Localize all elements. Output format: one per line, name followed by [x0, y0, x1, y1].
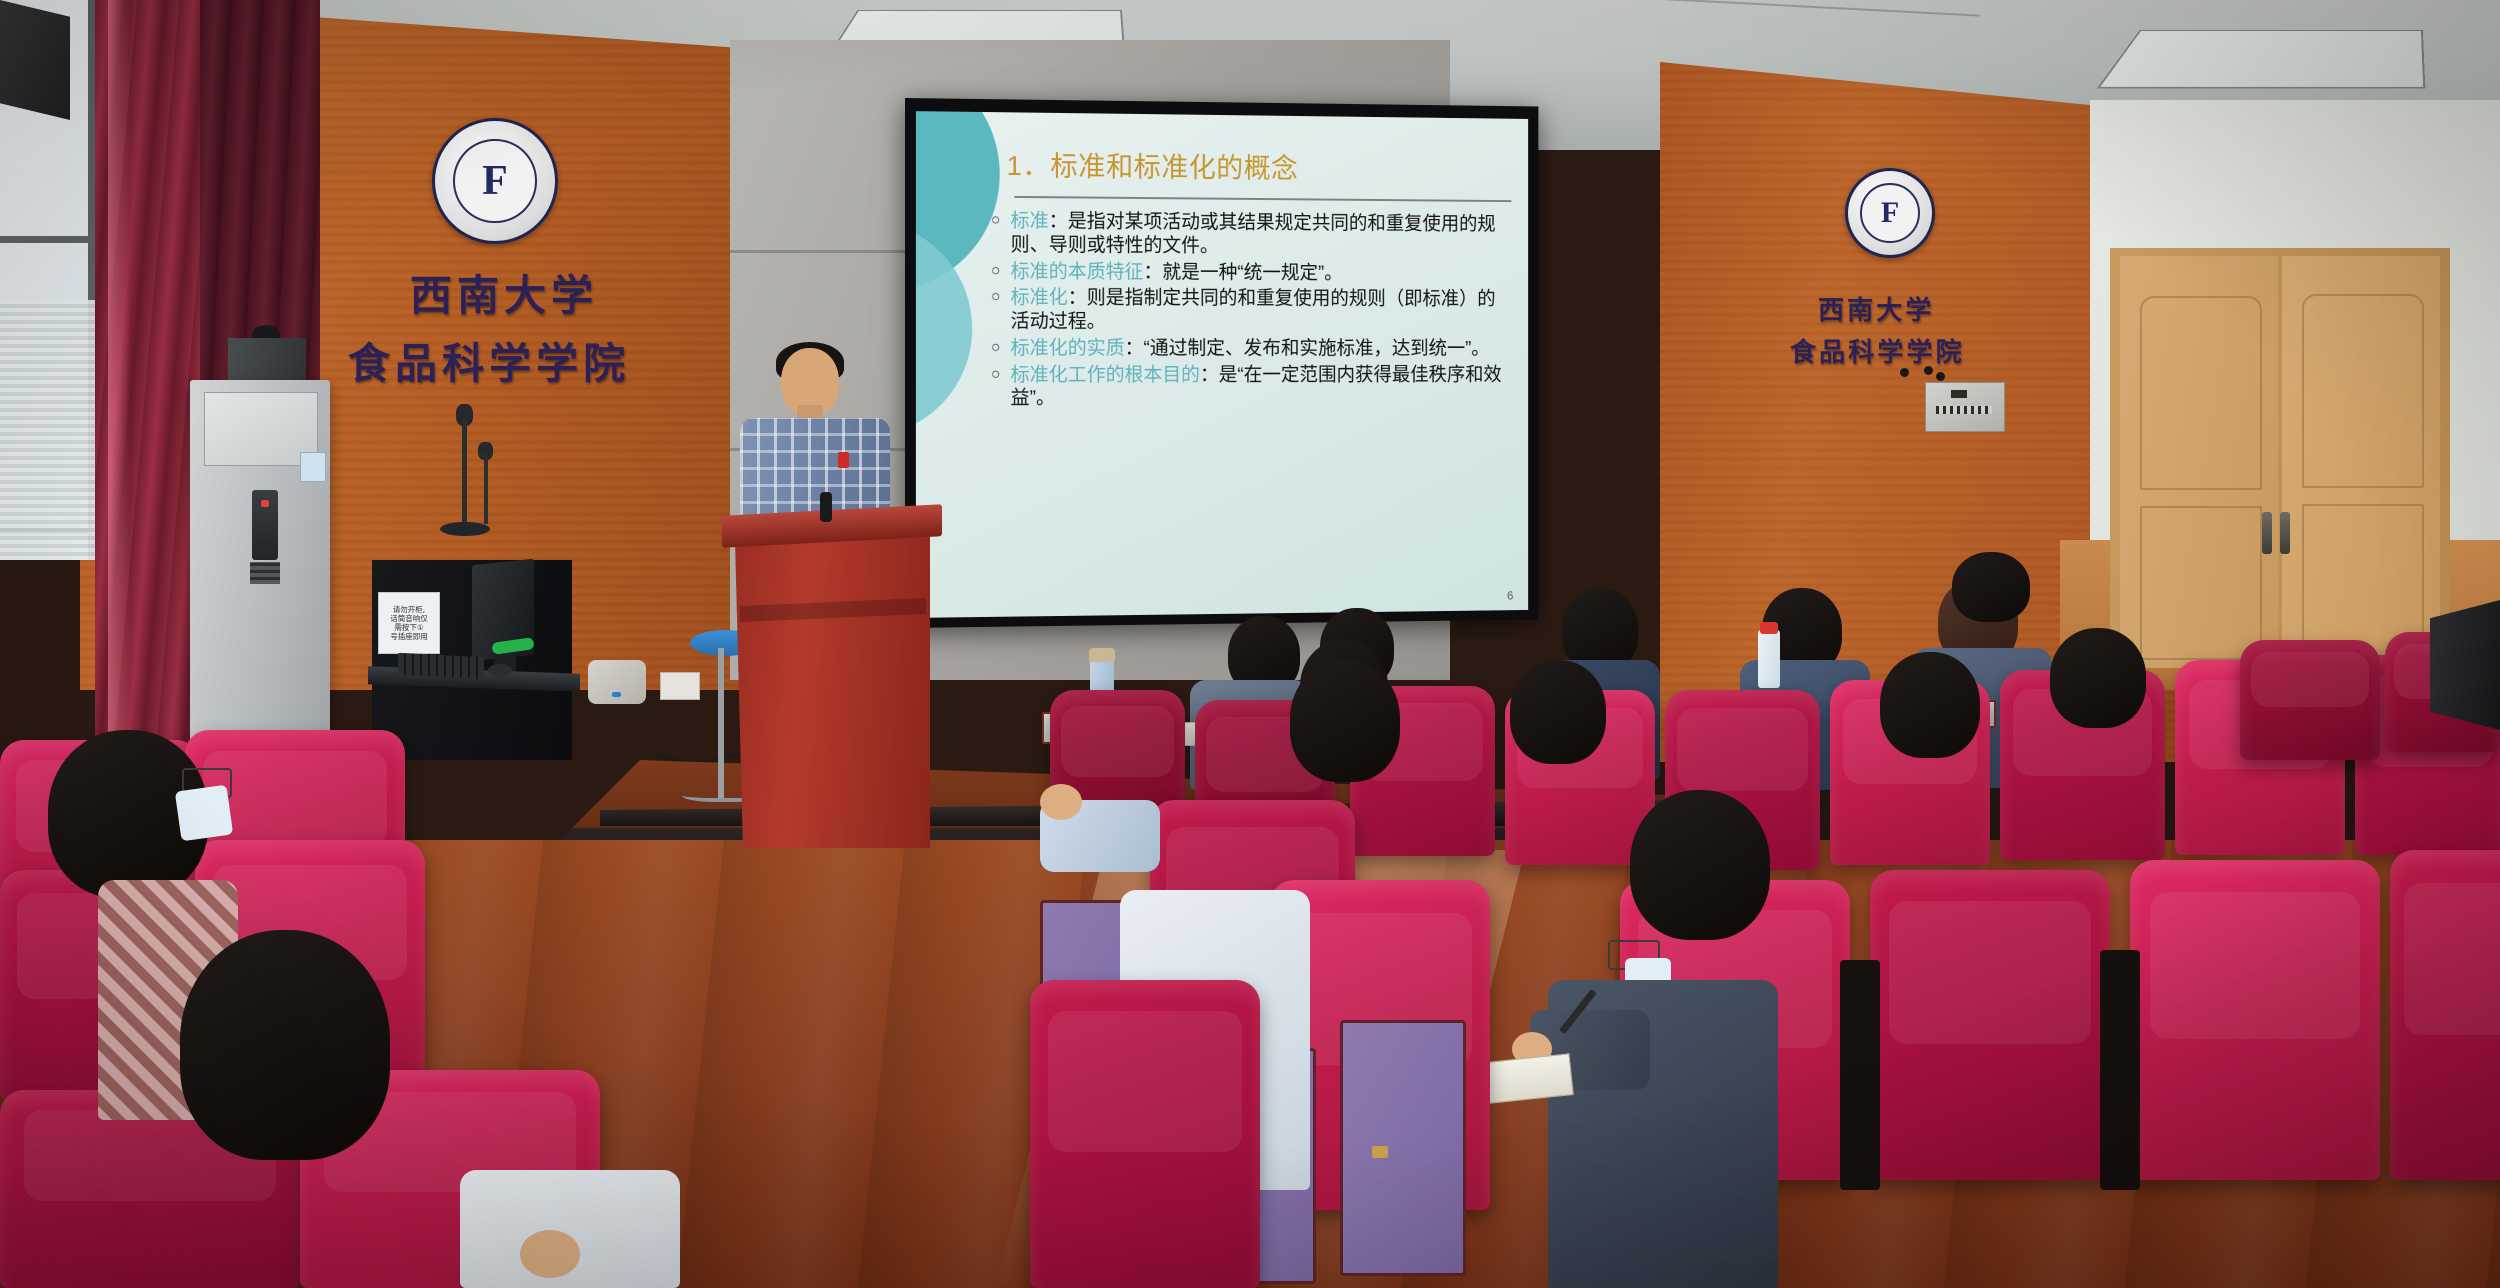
bullet-marker-icon: ○	[991, 337, 1011, 359]
keyboard[interactable]	[398, 653, 484, 680]
slide-bullet: ○ 标准的本质特征：就是一种“统一规定”。	[991, 260, 1513, 286]
audience-head	[180, 930, 390, 1160]
bullet-term: 标准的本质特征	[1011, 260, 1144, 282]
bullet-description: 是指对某项活动或其结果规定共同的和重复使用的规则、导则或特性的文件。	[1011, 210, 1496, 256]
wall-speaker-right	[2430, 600, 2500, 730]
wall-hooks	[1900, 368, 1942, 378]
door-panel	[2140, 296, 2262, 490]
status-led-icon	[612, 692, 621, 697]
door-panel	[2302, 294, 2424, 488]
notice-line: 请勿开柜,	[390, 605, 428, 614]
slide-bullet: ○ 标准化的实质：“通过制定、发布和实施标准，达到统一”。	[991, 337, 1513, 361]
emblem-inner-ring: F	[1860, 183, 1919, 242]
bullet-separator: ：	[1200, 364, 1219, 386]
bullet-content: 标准：是指对某项活动或其结果规定共同的和重复使用的规则、导则或特性的文件。	[1011, 210, 1514, 260]
podium	[735, 518, 930, 848]
wall-speaker-left-icon	[0, 0, 70, 120]
microphone-base	[440, 522, 490, 536]
door-handle-right[interactable]	[2280, 512, 2290, 554]
thermos-cap	[1089, 648, 1115, 662]
wall-text-university-left: 西南大学	[410, 262, 598, 323]
notice-sign: 请勿开柜, 话筒音响仅 需按下① 号插座即用	[378, 592, 440, 654]
wall-text-college-right: 食品科学学院	[1790, 332, 1965, 369]
water-bottle[interactable]	[1758, 630, 1780, 688]
mouse[interactable]	[488, 664, 512, 677]
cabinet-top-unit	[228, 338, 306, 382]
bullet-content: 标准的本质特征：就是一种“统一规定”。	[1011, 260, 1514, 286]
emblem-glyph: F	[482, 157, 508, 205]
bullet-marker-icon: ○	[991, 287, 1011, 309]
wall-hook-icon	[1924, 366, 1933, 375]
slide-title-divider	[1014, 196, 1511, 202]
face-mask	[175, 785, 233, 842]
seat-gap-shadow	[2100, 950, 2140, 1190]
emblem-inner-ring: F	[453, 139, 536, 222]
audience-head	[1880, 652, 1980, 758]
wall-hook-icon	[1900, 368, 1909, 377]
notice-line: 话筒音响仅	[390, 614, 428, 623]
slide-page-number: 6	[1507, 589, 1513, 603]
wall-hook-icon	[1936, 372, 1945, 381]
desk-latch	[1372, 1146, 1388, 1158]
door-panel	[2140, 506, 2262, 660]
cabinet-keypad[interactable]	[250, 562, 280, 584]
bullet-description: 就是一种“统一规定”。	[1162, 261, 1342, 283]
slide-bullet: ○ 标准化：则是指制定共同的和重复使用的规则（即标准）的活动过程。	[991, 287, 1513, 335]
bullet-term: 标准	[1011, 210, 1049, 232]
bullet-marker-icon: ○	[991, 260, 1011, 282]
bullet-marker-icon: ○	[991, 210, 1011, 232]
breaker-main-switch[interactable]	[1951, 390, 1967, 398]
bullet-separator: ：	[1049, 210, 1068, 232]
lecture-hall-photo: F 西南大学 食品科学学院 F 西南大学 食品科学学院 1．标准和标准化的概念	[0, 0, 2500, 1288]
microphone-stand	[462, 418, 467, 528]
stool-leg	[718, 648, 724, 798]
college-emblem-right: F	[1845, 168, 1935, 258]
microphone-stand	[484, 454, 488, 524]
seat[interactable]	[2130, 860, 2380, 1180]
window-blind	[0, 300, 96, 560]
bullet-separator: ：	[1068, 287, 1087, 309]
slide-body: ○ 标准：是指对某项活动或其结果规定共同的和重复使用的规则、导则或特性的文件。 …	[991, 210, 1513, 414]
seat[interactable]	[2390, 850, 2500, 1180]
cabinet-label-sticker	[300, 452, 326, 482]
seat[interactable]	[1030, 980, 1260, 1288]
bullet-description: “通过制定、发布和实施标准，达到统一”。	[1144, 337, 1490, 359]
bullet-marker-icon: ○	[991, 364, 1011, 386]
audience-head	[1290, 660, 1400, 782]
breaker-switch-row[interactable]	[1936, 406, 1992, 414]
bullet-content: 标准化：则是指制定共同的和重复使用的规则（即标准）的活动过程。	[1011, 287, 1514, 335]
desk-side-panel	[1340, 1020, 1466, 1276]
notice-line: 号插座即用	[390, 632, 428, 641]
audience-hand	[1040, 784, 1082, 820]
slide-bullet: ○ 标准化工作的根本目的：是“在一定范围内获得最佳秩序和效益”。	[991, 364, 1513, 411]
bottle-cap	[1760, 622, 1778, 634]
bullet-content: 标准化的实质：“通过制定、发布和实施标准，达到统一”。	[1011, 337, 1514, 361]
wall-text-college-left: 食品科学学院	[348, 330, 630, 391]
wall-text-university-right: 西南大学	[1818, 290, 1934, 327]
audience-head	[2050, 628, 2146, 728]
seat[interactable]	[2240, 640, 2380, 760]
notice-line: 需按下①	[390, 623, 428, 632]
projection-screen: 1．标准和标准化的概念 ○ 标准：是指对某项活动或其结果规定共同的和重复使用的规…	[905, 98, 1538, 628]
presenter-badge	[838, 452, 849, 468]
door-handle-left[interactable]	[2262, 512, 2272, 554]
power-led-icon	[261, 500, 269, 507]
bullet-term: 标准化的实质	[1011, 337, 1125, 359]
podium-microphone-icon	[820, 492, 832, 522]
bullet-separator: ：	[1144, 261, 1163, 283]
ceiling-light-panel	[2097, 30, 2425, 88]
bullet-term: 标准化	[1011, 287, 1068, 309]
wireless-receiver-box[interactable]	[588, 660, 646, 704]
audience-hand	[520, 1230, 580, 1278]
bullet-content: 标准化工作的根本目的：是“在一定范围内获得最佳秩序和效益”。	[1011, 364, 1514, 411]
seat-gap-shadow	[1840, 960, 1880, 1190]
audience-head	[1510, 660, 1606, 764]
notice-text: 请勿开柜, 话筒音响仅 需按下① 号插座即用	[390, 605, 428, 642]
audience-head	[1952, 552, 2030, 622]
bullet-term: 标准化工作的根本目的	[1011, 364, 1200, 386]
seat[interactable]	[1870, 870, 2110, 1180]
audience-head	[1630, 790, 1770, 940]
slide-title: 1．标准和标准化的概念	[1007, 144, 1508, 188]
slide-bullet: ○ 标准：是指对某项活动或其结果规定共同的和重复使用的规则、导则或特性的文件。	[991, 210, 1513, 260]
bullet-separator: ：	[1125, 337, 1144, 359]
college-emblem-left: F	[432, 118, 558, 244]
emblem-glyph: F	[1881, 196, 1899, 230]
presentation-slide: 1．标准和标准化的概念 ○ 标准：是指对某项活动或其结果规定共同的和重复使用的规…	[916, 111, 1528, 618]
